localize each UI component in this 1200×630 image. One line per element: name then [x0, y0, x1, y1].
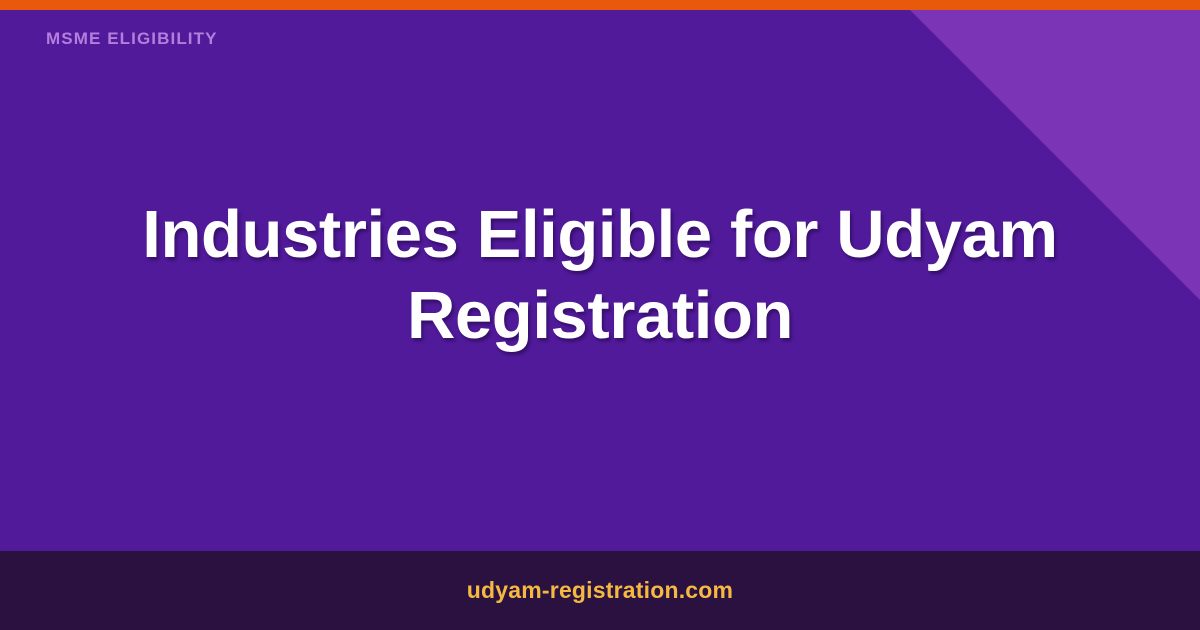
top-accent-bar	[0, 0, 1200, 10]
social-share-banner: MSME ELIGIBILITY Industries Eligible for…	[0, 0, 1200, 630]
site-url: udyam-registration.com	[467, 579, 733, 602]
title-container: Industries Eligible for Udyam Registrati…	[0, 0, 1200, 551]
page-title: Industries Eligible for Udyam Registrati…	[110, 195, 1090, 356]
footer-bar: udyam-registration.com	[0, 551, 1200, 630]
